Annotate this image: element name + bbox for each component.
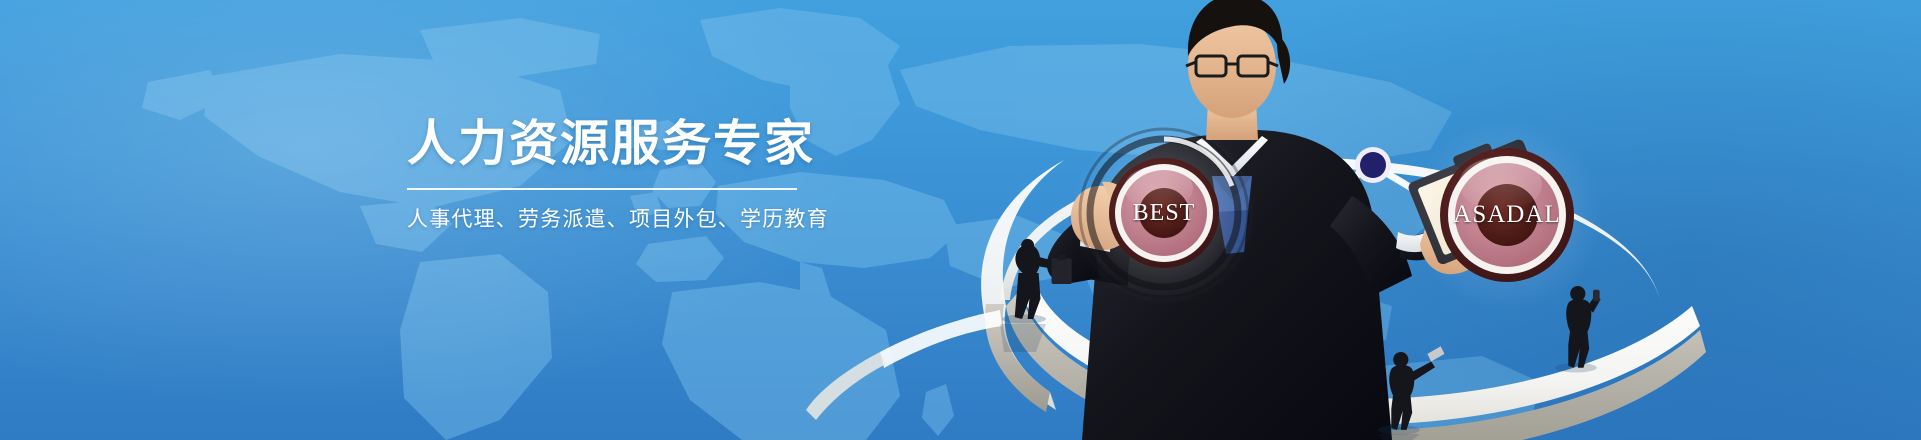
- badge-best: BEST: [1109, 158, 1219, 268]
- hero-banner: BEST ASADAL 人力资源服务专家 人事代理、劳务派遣、项目外包、学历教育: [0, 0, 1921, 440]
- banner-divider: [407, 188, 797, 190]
- badge-asadal-gloss: [1459, 157, 1542, 211]
- banner-copy: 人力资源服务专家 人事代理、劳务派遣、项目外包、学历教育: [407, 118, 797, 233]
- badge-best-gloss: [1124, 166, 1192, 210]
- badge-asadal: ASADAL: [1440, 148, 1574, 282]
- world-map-background: [0, 0, 1921, 440]
- banner-headline: 人力资源服务专家: [407, 118, 797, 171]
- banner-subline: 人事代理、劳务派遣、项目外包、学历教育: [407, 203, 797, 233]
